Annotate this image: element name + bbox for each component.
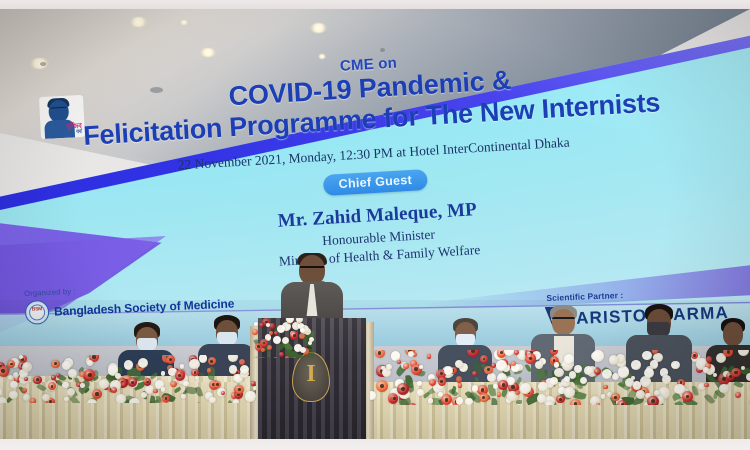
gerbera-flower: [279, 352, 284, 357]
white-lily-flower: [42, 394, 49, 401]
white-lily-flower: [180, 364, 184, 368]
foliage-leaf: [150, 373, 159, 381]
white-lily-flower: [609, 355, 619, 365]
white-lily-flower: [13, 372, 19, 378]
white-lily-flower: [554, 368, 563, 377]
foliage-leaf: [199, 372, 205, 377]
white-lily-flower: [68, 369, 76, 377]
gerbera-center: [502, 383, 505, 386]
white-lily-flower: [253, 386, 256, 390]
ceiling-vent-1: [40, 62, 46, 66]
white-lily-flower: [713, 373, 717, 377]
gerbera-flower: [121, 382, 125, 386]
white-lily-flower: [181, 394, 185, 398]
white-lily-flower: [746, 373, 750, 381]
foliage-leaf: [226, 400, 233, 403]
gerbera-center: [293, 334, 296, 337]
gerbera-center: [553, 350, 556, 352]
speaker-glasses-icon: [300, 266, 324, 274]
ceiling-vent-2: [380, 48, 385, 52]
gerbera-flower: [292, 357, 297, 358]
gerbera-center: [727, 350, 730, 353]
white-lily-flower: [161, 387, 166, 392]
white-lily-flower: [550, 377, 559, 386]
gerbera-flower: [472, 371, 477, 376]
white-lily-flower: [228, 355, 238, 362]
white-lily-flower: [662, 375, 671, 384]
gerbera-flower: [30, 398, 35, 403]
gerbera-center: [734, 371, 737, 374]
podium-emblem-letter: I: [293, 362, 329, 386]
gerbera-flower: [269, 323, 275, 329]
top-border-strip: [0, 0, 750, 9]
flower-arrangement-right: [370, 350, 750, 405]
white-lily-flower: [569, 371, 576, 378]
foliage-leaf: [734, 380, 745, 389]
white-lily-flower: [580, 377, 587, 384]
white-lily-flower: [493, 384, 498, 389]
guest-4-glasses-icon: [552, 317, 575, 324]
white-lily-flower: [504, 350, 514, 356]
guest-6-head: [723, 322, 743, 346]
gerbera-flower: [515, 390, 520, 395]
gerbera-flower: [273, 357, 278, 358]
white-lily-flower: [618, 366, 629, 377]
gerbera-flower: [458, 383, 462, 387]
white-lily-flower: [601, 394, 606, 399]
white-lily-flower: [229, 365, 237, 373]
ceiling-vent-3: [150, 87, 163, 93]
gerbera-center: [10, 363, 13, 366]
gerbera-flower: [427, 354, 432, 359]
white-lily-flower: [444, 367, 452, 375]
white-lily-flower: [584, 366, 593, 375]
white-lily-flower: [644, 368, 654, 378]
bsm-seal-text: BSM: [26, 306, 48, 313]
white-lily-flower: [195, 376, 199, 380]
gerbera-flower: [596, 403, 600, 405]
white-lily-flower: [465, 398, 472, 405]
white-lily-flower: [419, 365, 423, 369]
flower-arrangement-podium: [252, 318, 314, 358]
white-lily-flower: [487, 373, 495, 381]
ceiling-light-6: [318, 54, 326, 59]
white-lily-flower: [189, 359, 199, 369]
white-lily-flower: [300, 347, 306, 353]
white-lily-flower: [199, 355, 207, 363]
white-lily-flower: [233, 399, 239, 403]
photograph-stage: মুজিব বর্ষ CME on COVID-19 Pandemic & Fe…: [0, 0, 750, 450]
white-lily-flower: [592, 350, 604, 362]
gerbera-flower: [594, 368, 601, 375]
gerbera-flower: [267, 345, 272, 350]
white-lily-flower: [417, 389, 424, 396]
gerbera-flower: [259, 323, 263, 327]
gerbera-center: [1, 369, 5, 373]
white-lily-flower: [209, 397, 216, 403]
white-lily-flower: [671, 361, 680, 370]
white-lily-flower: [631, 360, 640, 369]
flower-arrangement-left: [0, 355, 256, 403]
foliage-leaf: [266, 351, 270, 357]
white-lily-flower: [10, 381, 17, 388]
foliage-leaf: [491, 398, 497, 405]
gerbera-flower: [735, 392, 742, 399]
gerbera-center: [165, 397, 167, 399]
gerbera-center: [574, 402, 578, 405]
white-lily-flower: [738, 350, 749, 356]
gerbera-center: [481, 388, 485, 392]
ceiling-light-5: [180, 20, 188, 25]
white-lily-flower: [370, 391, 376, 400]
mujib-glasses-icon: [50, 107, 66, 113]
white-lily-flower: [654, 390, 660, 396]
white-lily-flower: [517, 404, 522, 405]
foliage-leaf: [149, 401, 153, 403]
white-lily-flower: [633, 381, 641, 389]
foliage-leaf: [197, 402, 202, 403]
white-lily-flower: [472, 385, 478, 391]
white-lily-flower: [636, 390, 645, 399]
gerbera-center: [614, 396, 617, 399]
gerbera-center: [693, 354, 695, 356]
gerbera-center: [559, 398, 562, 401]
white-lily-flower: [87, 360, 93, 366]
gerbera-center: [88, 373, 92, 377]
white-lily-flower: [9, 391, 18, 400]
white-lily-flower: [23, 394, 30, 401]
gerbera-center: [95, 392, 98, 395]
gerbera-flower: [456, 376, 463, 383]
gerbera-flower: [111, 387, 117, 393]
white-lily-flower: [602, 369, 612, 379]
white-lily-flower: [129, 398, 139, 403]
speaker-at-podium: [281, 255, 343, 323]
foliage-leaf: [524, 364, 532, 373]
white-lily-flower: [537, 394, 546, 403]
white-lily-flower: [240, 365, 249, 374]
gerbera-center: [621, 403, 624, 405]
gerbera-center: [210, 360, 213, 363]
gerbera-flower: [285, 356, 289, 358]
white-lily-flower: [428, 398, 433, 403]
ceiling-light-2: [130, 17, 147, 27]
gerbera-flower: [299, 333, 305, 339]
gerbera-flower: [706, 356, 713, 363]
gerbera-center: [51, 385, 54, 388]
gerbera-center: [445, 398, 449, 402]
white-lily-flower: [642, 351, 651, 360]
white-lily-flower: [183, 381, 189, 387]
white-lily-flower: [538, 382, 547, 391]
gerbera-flower: [497, 392, 502, 397]
ceiling-light-3: [200, 48, 216, 57]
gerbera-flower: [407, 403, 417, 405]
gerbera-flower: [252, 329, 258, 335]
bottom-border-strip: [0, 439, 750, 450]
gerbera-flower: [603, 385, 608, 390]
white-lily-flower: [417, 381, 422, 386]
white-lily-flower: [456, 397, 464, 405]
gerbera-flower: [22, 388, 27, 393]
white-lily-flower: [124, 360, 133, 369]
white-lily-flower: [245, 391, 255, 401]
white-lily-flower: [161, 371, 166, 376]
white-lily-flower: [116, 394, 126, 403]
white-lily-flower: [254, 322, 258, 326]
white-lily-flower: [719, 384, 728, 393]
white-lily-flower: [554, 362, 560, 368]
gerbera-center: [216, 383, 218, 385]
white-lily-flower: [0, 397, 7, 403]
foliage-leaf: [36, 383, 46, 392]
white-lily-flower: [277, 325, 285, 333]
gerbera-center: [92, 355, 95, 358]
gerbera-flower: [403, 363, 409, 369]
gerbera-flower: [170, 381, 177, 388]
ceiling-light-4: [310, 23, 327, 33]
foliage-leaf: [474, 376, 479, 382]
white-lily-flower: [80, 383, 85, 388]
mujib-logo-subtext: বর্ষ: [76, 129, 82, 137]
white-lily-flower: [8, 375, 13, 380]
gerbera-flower: [261, 348, 265, 352]
white-lily-flower: [386, 364, 392, 370]
mujib-borsho-logo: মুজিব বর্ষ: [39, 95, 85, 139]
white-lily-flower: [0, 387, 2, 396]
gerbera-flower: [704, 383, 708, 387]
white-lily-flower: [703, 367, 709, 373]
gerbera-flower: [51, 375, 56, 380]
gerbera-center: [131, 381, 134, 384]
gerbera-flower: [269, 331, 273, 335]
gerbera-flower: [143, 379, 147, 383]
white-lily-flower: [138, 358, 148, 368]
gerbera-center: [393, 397, 396, 400]
gerbera-flower: [153, 389, 158, 394]
white-lily-flower: [535, 361, 543, 369]
white-lily-flower: [496, 360, 507, 371]
bsm-seal-icon: BSM: [25, 300, 50, 325]
white-lily-flower: [62, 382, 68, 388]
white-lily-flower: [87, 399, 97, 403]
gerbera-center: [238, 388, 241, 391]
gerbera-flower: [221, 391, 225, 395]
foliage-leaf: [174, 386, 182, 393]
white-lily-flower: [64, 397, 68, 401]
